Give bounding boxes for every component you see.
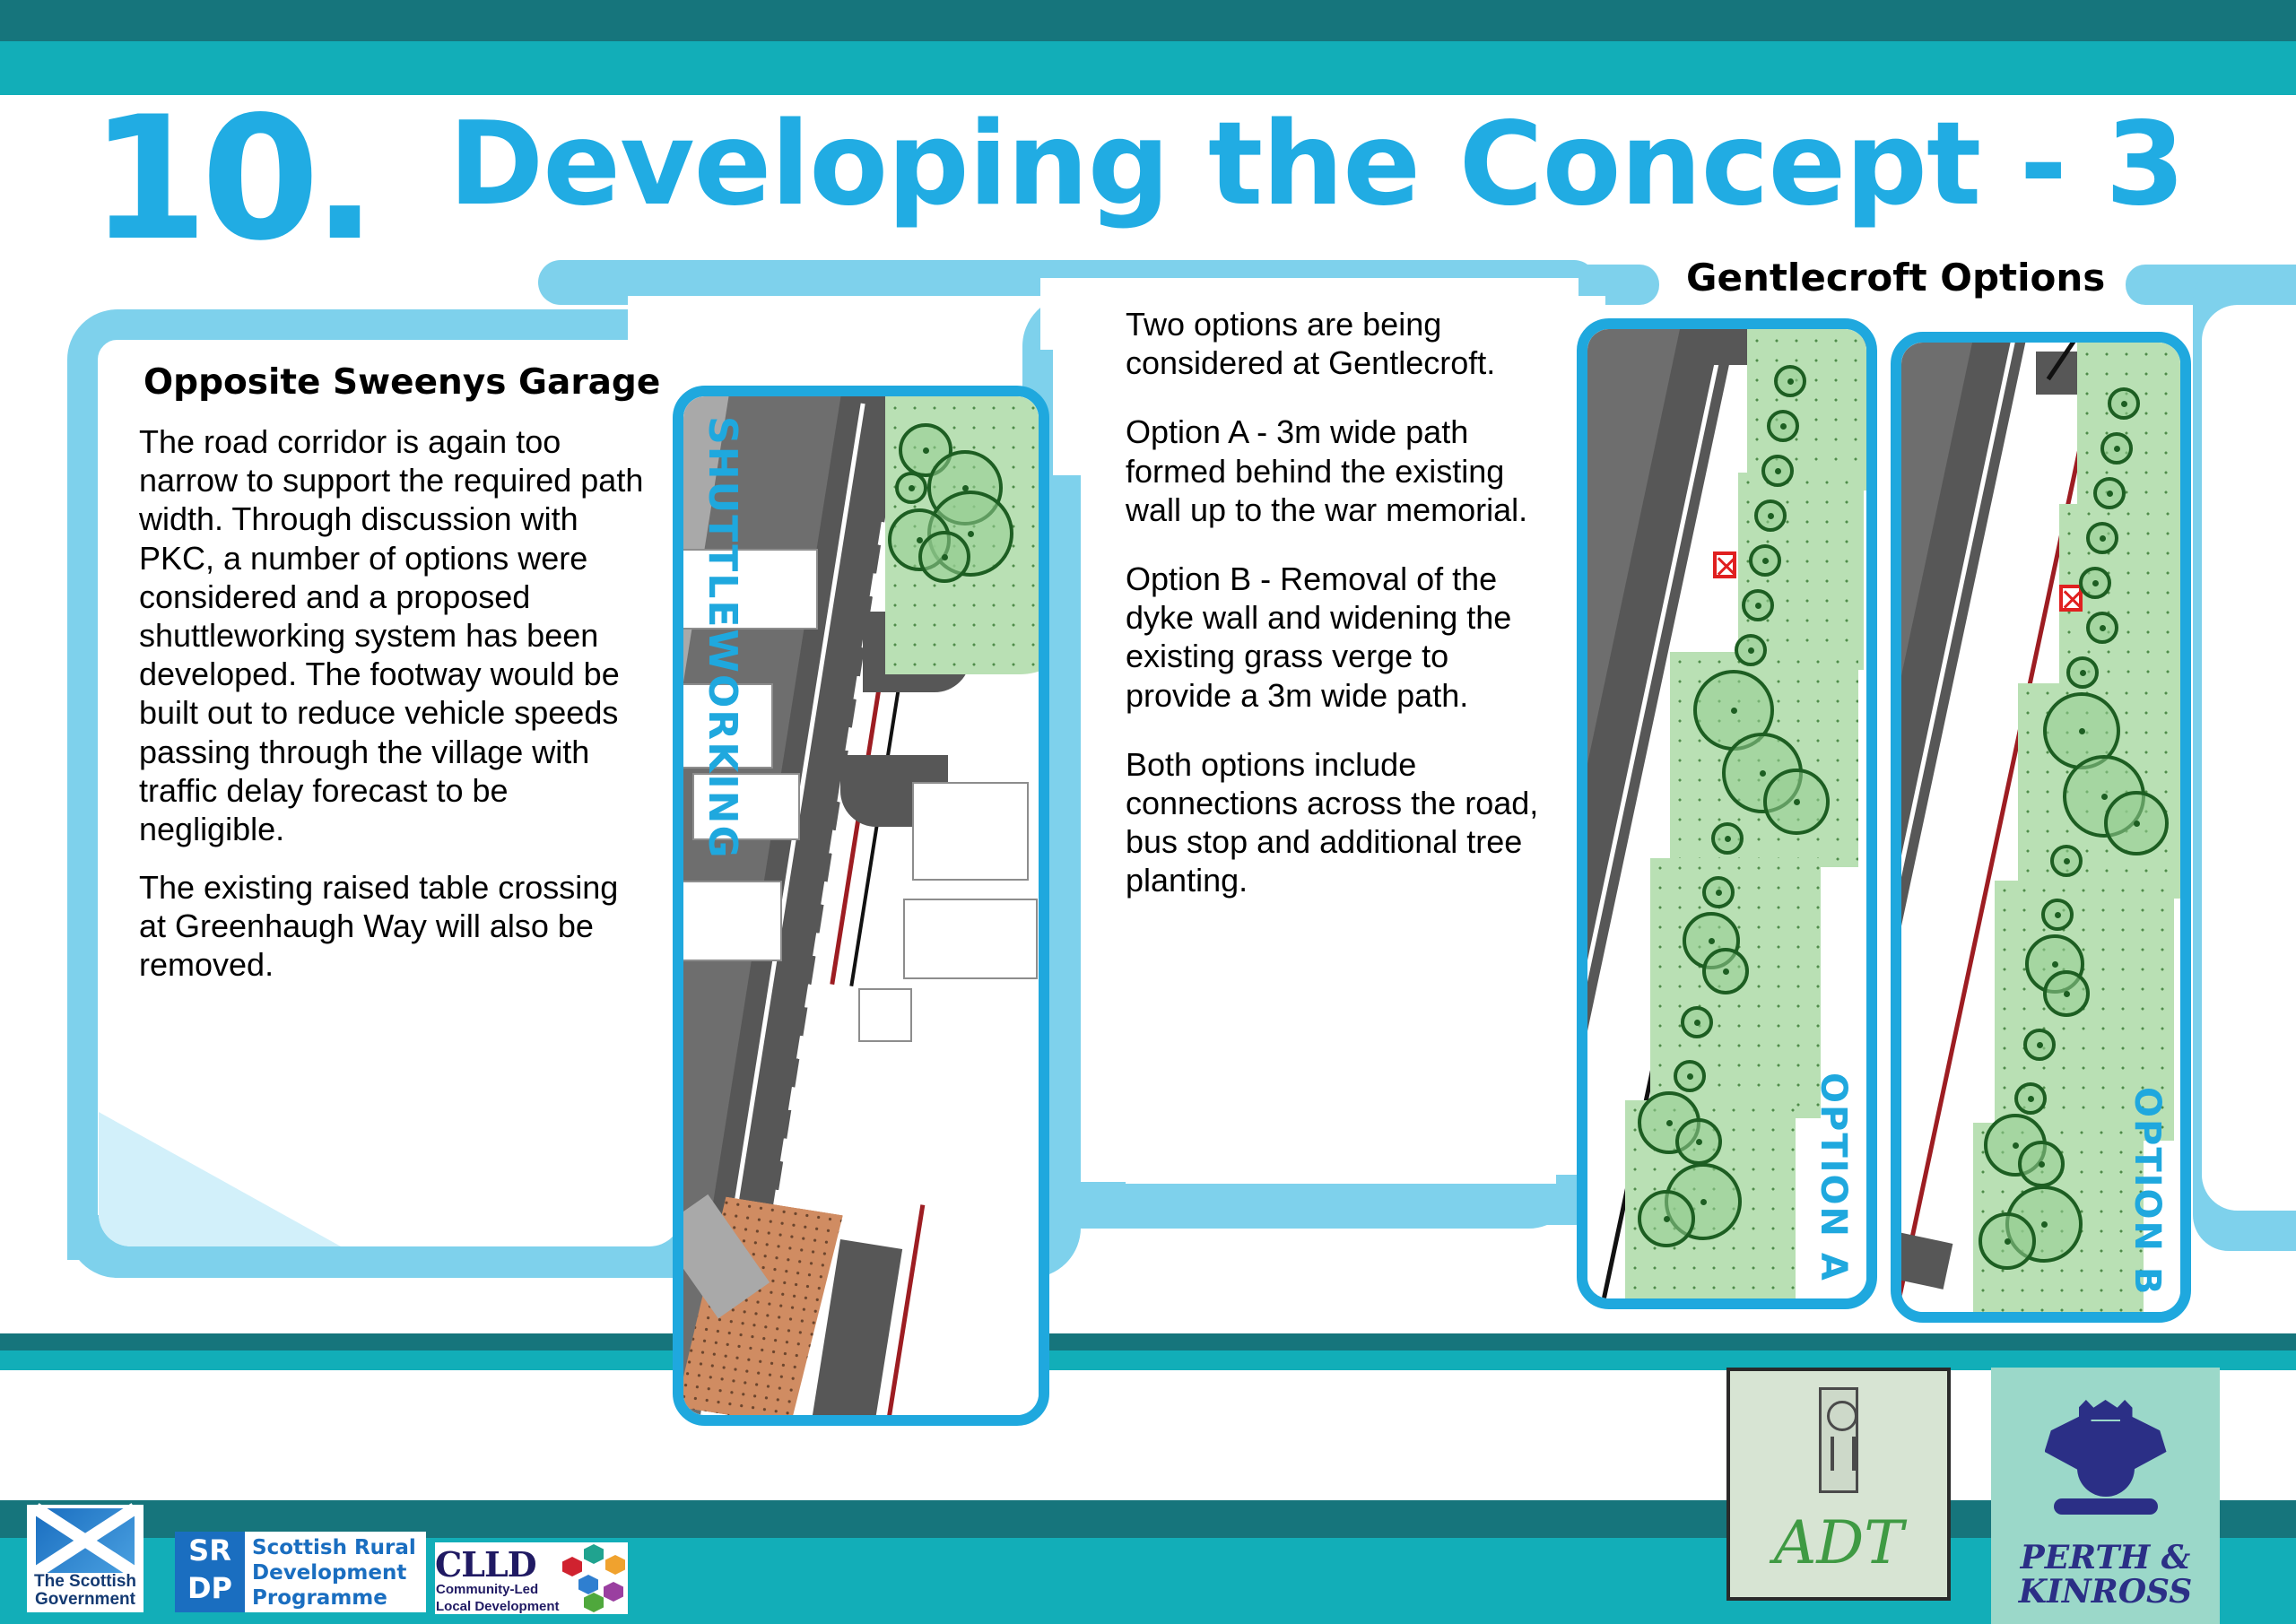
hexagon-icon (605, 1555, 625, 1575)
tree-symbol (1702, 948, 1749, 994)
crest-motto-scroll-icon (2054, 1498, 2158, 1515)
hexagon-icon (578, 1575, 598, 1594)
tree-symbol (1767, 410, 1799, 442)
adt-label: ADT (1730, 1508, 1947, 1577)
scottish-government-label: The Scottish Government (27, 1573, 143, 1609)
tree-symbol (895, 472, 927, 504)
map-label-option-b: OPTION B (2126, 1087, 2168, 1296)
left-card-heading: Opposite Sweenys Garage (143, 362, 682, 403)
pk-line-2: KINROSS (2019, 1573, 2193, 1611)
hexagon-icon (562, 1557, 582, 1576)
card-corner-accent (99, 1112, 341, 1246)
clld-hexagon-cluster-icon (561, 1542, 628, 1612)
middle-text-column: Two options are being considered at Gent… (1126, 305, 1556, 1184)
tree-symbol (2023, 1029, 2056, 1061)
tree-symbol (2079, 567, 2111, 599)
tree-symbol (1742, 589, 1774, 621)
tree-symbol (918, 531, 970, 583)
clld-sub-line-2: Local Development (436, 1599, 560, 1614)
heraldic-crest-icon (2050, 1389, 2161, 1524)
middle-paragraph-2: Option A - 3m wide path formed behind th… (1126, 413, 1556, 529)
tree-symbol (1675, 1118, 1722, 1165)
tree-symbol (1702, 876, 1735, 908)
poster-board: 10. Developing the Concept - 3 Gentlecro… (0, 0, 2296, 1624)
tree-symbol (2043, 970, 2090, 1017)
left-card-paragraph-2: The existing raised table crossing at Gr… (139, 868, 646, 985)
bus-stop-symbol (1713, 551, 1736, 578)
srdp-mark-icon: SR DP (175, 1532, 245, 1612)
tree-symbol (2104, 791, 2169, 855)
sg-line-2: Government (35, 1590, 135, 1609)
tree-symbol (2100, 432, 2133, 465)
saltire-flag-icon (36, 1508, 135, 1573)
middle-paragraph-3: Option B - Removal of the dyke wall and … (1126, 560, 1556, 715)
tree-symbol (1681, 1006, 1713, 1038)
tree-symbol (2014, 1082, 2047, 1115)
tree-symbol (1754, 499, 1787, 532)
crest-crown-icon (2079, 1400, 2133, 1420)
tree-symbol (1735, 634, 1767, 666)
map-label-option-a: OPTION A (1813, 1073, 1854, 1282)
srdp-mark-line-2: DP (187, 1571, 232, 1605)
tree-symbol (2041, 899, 2074, 931)
hexagon-icon (584, 1593, 604, 1612)
hexagon-icon (604, 1582, 623, 1602)
side-road-arm (1901, 1221, 1952, 1290)
tree-symbol (1774, 365, 1806, 397)
decor-arm-right-inner (2202, 305, 2296, 1211)
clock-tower-icon (1819, 1387, 1858, 1493)
building-outline (683, 881, 782, 961)
logo-scottish-government: The Scottish Government (27, 1505, 143, 1612)
srdp-mark-line-1: SR (188, 1533, 231, 1568)
tree-symbol (1979, 1212, 2036, 1270)
tree-symbol (1711, 822, 1744, 855)
map-panel-option-b[interactable]: OPTION B (1891, 332, 2191, 1323)
tree-symbol (1674, 1060, 1706, 1092)
middle-band-dark (0, 1333, 2296, 1350)
subheading: Gentlecroft Options (1686, 256, 2105, 300)
bus-stop-symbol (2059, 585, 2083, 612)
tree-symbol (1761, 455, 1794, 487)
tree-symbol (2086, 522, 2118, 554)
map-panel-option-a[interactable]: OPTION A (1577, 318, 1877, 1309)
clld-sub-line-1: Community-Led (436, 1582, 538, 1597)
srdp-label: Scottish Rural Development Programme (252, 1535, 428, 1611)
building-outline (903, 899, 1038, 979)
page-number: 10. (90, 94, 370, 265)
logo-perth-kinross: PERTH & KINROSS (1991, 1368, 2220, 1624)
perth-kinross-label: PERTH & KINROSS (1991, 1541, 2220, 1610)
hexagon-icon (584, 1544, 604, 1564)
decor-bar-middle-bottom (1058, 1182, 1596, 1225)
logo-srdp: SR DP Scottish Rural Development Program… (175, 1532, 426, 1612)
tree-symbol (2093, 477, 2126, 509)
tree-symbol (2018, 1141, 2065, 1187)
middle-band-light (0, 1350, 2296, 1370)
map-label-shuttleworking: SHUTTLEWORKING (700, 416, 745, 860)
tree-symbol (2086, 612, 2118, 644)
clld-subtitle: Community-Led Local Development (436, 1582, 570, 1616)
tree-symbol (1638, 1190, 1695, 1247)
tree-symbol (2108, 387, 2140, 420)
building-outline (858, 988, 912, 1042)
tree-symbol (2050, 845, 2083, 877)
sg-line-1: The Scottish (34, 1572, 136, 1591)
pk-line-1: PERTH & (2021, 1539, 2191, 1576)
page-title: Developing the Concept - 3 (448, 108, 2184, 222)
building-outline (912, 782, 1029, 881)
middle-paragraph-1: Two options are being considered at Gent… (1126, 305, 1556, 382)
logo-clld: CLLD Community-Led Local Development (435, 1542, 628, 1614)
left-card-paragraph-1: The road corridor is again too narrow to… (139, 422, 646, 848)
left-text-card: Opposite Sweenys Garage The road corrido… (99, 341, 682, 1246)
tree-symbol (1749, 544, 1781, 577)
middle-paragraph-4: Both options include connections across … (1126, 745, 1556, 900)
map-panel-shuttleworking[interactable]: SHUTTLEWORKING (673, 386, 1049, 1426)
crest-shield-icon (2077, 1421, 2135, 1497)
logo-adt: ADT (1726, 1368, 1951, 1601)
clld-acronym: CLLD (435, 1544, 536, 1585)
tree-symbol (2066, 656, 2099, 689)
top-band-dark (0, 0, 2296, 41)
tree-symbol (1763, 769, 1830, 835)
